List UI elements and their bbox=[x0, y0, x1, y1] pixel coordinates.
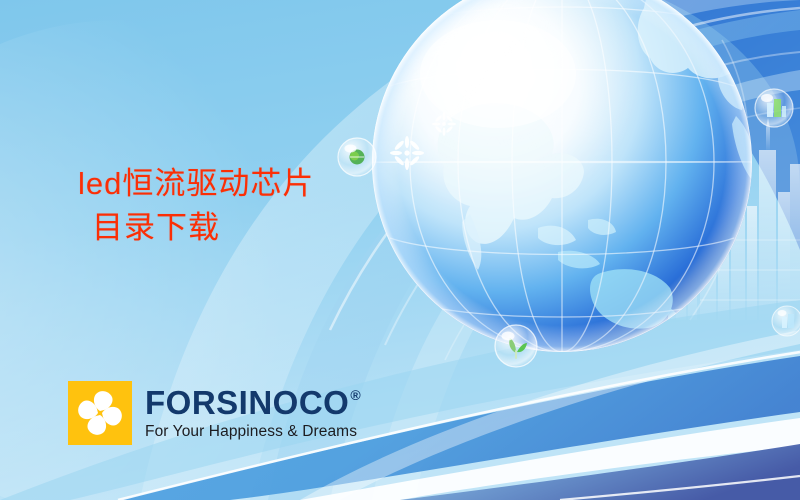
brand-logo[interactable]: FORSINOCO ® For Your Happiness & Dreams bbox=[68, 381, 361, 445]
registered-trademark-icon: ® bbox=[350, 388, 361, 402]
brand-tagline: For Your Happiness & Dreams bbox=[145, 423, 361, 440]
four-petal-pinwheel-icon bbox=[68, 381, 132, 445]
brand-wordmark: FORSINOCO ® bbox=[145, 386, 361, 419]
brand-name: FORSINOCO bbox=[145, 386, 349, 419]
headline-block: led恒流驱动芯片 目录下载 bbox=[78, 162, 408, 250]
brand-text: FORSINOCO ® For Your Happiness & Dreams bbox=[145, 386, 361, 440]
banner-canvas: led恒流驱动芯片 目录下载 FORSINOCO ® For Your Happ… bbox=[0, 0, 800, 500]
headline-line-1: led恒流驱动芯片 bbox=[78, 162, 408, 206]
headline-line-2: 目录下载 bbox=[78, 206, 408, 250]
